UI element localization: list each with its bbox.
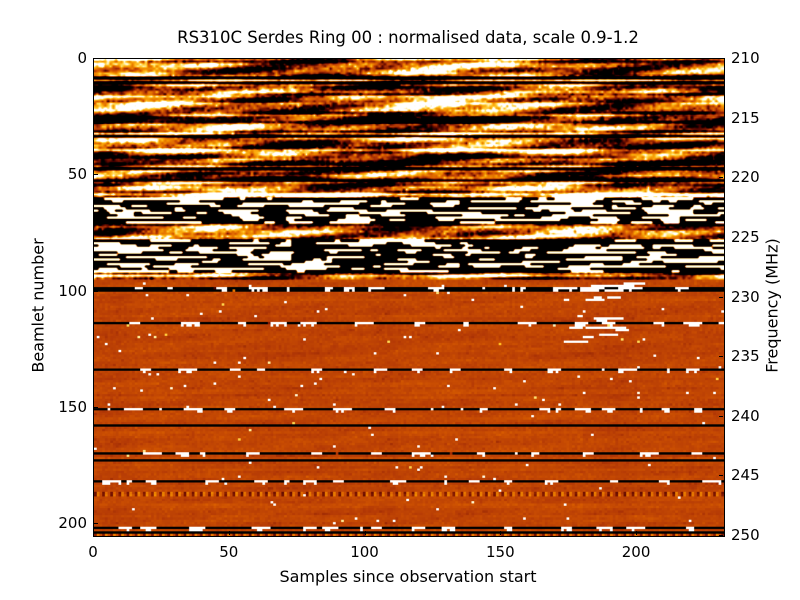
x-ticklabel-150: 150 <box>470 543 530 561</box>
y-tick-right-220 <box>719 177 723 178</box>
y-tick-right-215 <box>719 118 723 119</box>
y-tick-right-225 <box>719 237 723 238</box>
y-tick-right-210 <box>719 58 723 59</box>
y-tick-left-0 <box>94 58 98 59</box>
x-tick-100 <box>365 531 366 535</box>
x-ticklabel-0: 0 <box>63 543 123 561</box>
plot-title: RS310C Serdes Ring 00 : normalised data,… <box>93 28 723 47</box>
y-ticklabel-right-220: 220 <box>731 168 775 186</box>
x-tick-200 <box>636 531 637 535</box>
y-ticklabel-right-235: 235 <box>731 347 775 365</box>
y-ticklabel-right-210: 210 <box>731 49 775 67</box>
y-tick-left-100 <box>94 291 98 292</box>
x-tick-50 <box>229 531 230 535</box>
y-ticklabel-right-250: 250 <box>731 526 775 544</box>
y-tick-right-235 <box>719 356 723 357</box>
x-axis-label: Samples since observation start <box>93 567 723 586</box>
y-ticklabel-right-215: 215 <box>731 109 775 127</box>
x-ticklabel-200: 200 <box>606 543 666 561</box>
matplotlib-figure: RS310C Serdes Ring 00 : normalised data,… <box>0 0 800 600</box>
y-tick-left-50 <box>94 174 98 175</box>
y-ticklabel-right-245: 245 <box>731 466 775 484</box>
y-ticklabel-left-100: 100 <box>47 282 87 300</box>
y-ticklabel-left-50: 50 <box>47 165 87 183</box>
heatmap-image[interactable] <box>94 59 724 536</box>
x-tick-150 <box>500 531 501 535</box>
x-ticklabel-100: 100 <box>335 543 395 561</box>
y-ticklabel-right-230: 230 <box>731 288 775 306</box>
y-tick-right-240 <box>719 416 723 417</box>
y-ticklabel-left-150: 150 <box>47 398 87 416</box>
x-ticklabel-50: 50 <box>199 543 259 561</box>
y-tick-right-250 <box>719 535 723 536</box>
y-ticklabel-left-0: 0 <box>47 49 87 67</box>
heatmap-axes[interactable] <box>93 58 725 537</box>
y-ticklabel-right-240: 240 <box>731 407 775 425</box>
y-axis-label-left: Beamlet number <box>29 206 48 406</box>
y-tick-right-230 <box>719 297 723 298</box>
y-tick-left-150 <box>94 407 98 408</box>
y-tick-right-245 <box>719 475 723 476</box>
y-tick-left-200 <box>94 523 98 524</box>
y-ticklabel-left-200: 200 <box>47 514 87 532</box>
x-tick-0 <box>93 531 94 535</box>
y-ticklabel-right-225: 225 <box>731 228 775 246</box>
